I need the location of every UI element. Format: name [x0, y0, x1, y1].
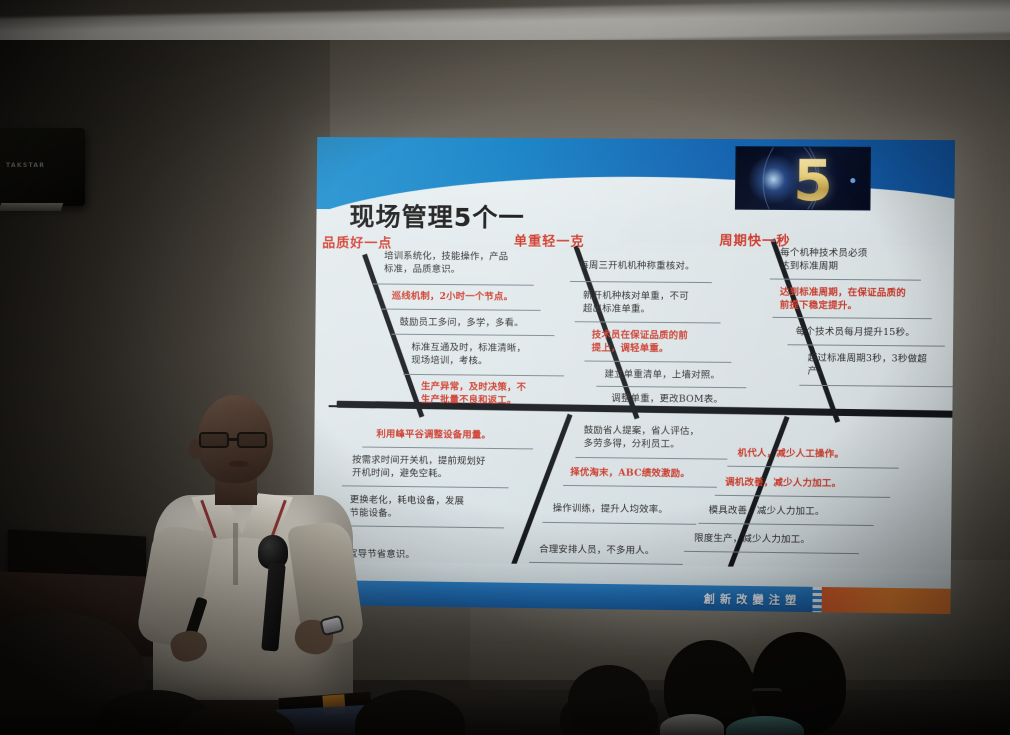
- fishbone-bone-quality: [362, 254, 424, 418]
- branch-auto-item-3: 限度生产，减少人力加工。: [694, 532, 810, 547]
- branch-cycle-item-1: 达到标准周期，在保证品质的 前提下稳定提升。: [780, 286, 906, 314]
- branch-cycle-item-3: 超过标准周期3秒，3秒做超 产。: [808, 351, 927, 379]
- fishbone-diagram: 5个一 改善 品质好一点 单重轻一克 周期快一秒 省一度电 省一大 培训系统化，…: [313, 137, 955, 614]
- branch-weight-item-4: 调整单重，更改BOM表。: [611, 392, 723, 406]
- branch-quality-item-3: 标准互通及时，标准清晰， 现场培训，考核。: [411, 341, 526, 369]
- glasses-lens-left: [199, 432, 229, 448]
- wall-speaker: TAKSTAR: [0, 128, 85, 206]
- branch-power-rule-1: [342, 485, 509, 488]
- branch-auto-rule-3: [684, 551, 859, 554]
- branch-quality-item-0: 培训系统化，技能操作，产品 标准，品质意识。: [384, 249, 508, 276]
- presenter: [145, 395, 360, 695]
- branch-people-item-2: 操作训练，提升人均效率。: [553, 502, 668, 517]
- glasses-lens-right: [237, 432, 267, 448]
- branch-weight-rule-1: [575, 321, 721, 323]
- branch-power-item-2: 更换老化，耗电设备，发展 节能设备。: [350, 493, 465, 521]
- branch-label-weight: 单重轻一克: [514, 230, 585, 250]
- branch-weight-rule-3: [596, 386, 746, 388]
- branch-weight-rule-2: [584, 361, 731, 363]
- branch-people-item-0: 鼓励省人提案，省人评估， 多劳多得，分利员工。: [584, 424, 700, 452]
- branch-quality-rule-2: [391, 334, 554, 336]
- glasses-bridge: [229, 438, 237, 441]
- branch-label-quality: 品质好一点: [322, 232, 392, 252]
- photo-scene: TAKSTAR 5 现场管理5个一: [0, 0, 1010, 735]
- branch-power-item-0: 利用峰平谷调整设备用量。: [376, 428, 491, 442]
- branch-quality-item-2: 鼓励员工多问，多学，多看。: [400, 316, 524, 330]
- speaker-brand-label: TAKSTAR: [6, 162, 45, 169]
- branch-auto-rule-0: [727, 466, 898, 469]
- branch-weight-item-2: 技术员在保证品质的前 提上，调轻单重。: [592, 328, 688, 355]
- branch-cycle-item-2: 每个技术员每月提升15秒。: [796, 325, 915, 339]
- branch-auto-item-0: 机代人，减少人工操作。: [738, 447, 845, 461]
- branch-quality-item-4: 生产异常，及时决策，不 生产批量不良和返工。: [421, 380, 526, 408]
- branch-weight-item-1: 新开机种核对单重，不可 超出标准单重。: [583, 289, 689, 316]
- branch-auto-item-1: 调机改善，减少人力加工。: [725, 476, 841, 491]
- branch-cycle-rule-1: [772, 317, 931, 319]
- presenter-shirt-placket: [233, 523, 238, 585]
- branch-power-item-1: 按需求时间开关机，提前规划好 开机时间，避免空耗。: [352, 453, 486, 481]
- branch-cycle-item-0: 每个机种技术员必须 达到标准周期: [780, 246, 867, 273]
- branch-people-item-3: 合理安排人员，不多用人。: [539, 543, 654, 558]
- projected-slide: 5 现场管理5个一 5个一 改善: [313, 137, 955, 614]
- branch-quality-rule-3: [403, 374, 564, 377]
- branch-people-rule-1: [563, 485, 717, 488]
- audience-foreground-shade: [0, 695, 1010, 735]
- branch-people-item-1: 择优淘末，ABC绩效激励。: [570, 466, 690, 481]
- branch-auto-rule-1: [715, 495, 890, 498]
- glasses-icon: [197, 432, 275, 448]
- slide-footer-accent: [820, 587, 951, 614]
- presenter-mouth: [229, 461, 249, 467]
- branch-auto-item-2: 模具改善，减少人力加工。: [709, 504, 825, 519]
- slide-footer-notch: [812, 587, 821, 612]
- speaker-mount-bracket: [0, 203, 63, 211]
- branch-quality-rule-1: [382, 309, 541, 311]
- fishbone-bone-people: [723, 416, 789, 580]
- branch-auto-rule-2: [698, 523, 873, 526]
- branch-quality-rule-0: [373, 283, 534, 285]
- branch-weight-item-3: 建立单重清单，上墙对照。: [604, 368, 720, 382]
- branch-weight-item-0: 每周三开机机种称重核对。: [579, 259, 695, 273]
- branch-people-rule-0: [575, 457, 727, 460]
- branch-power-rule-0: [362, 447, 533, 450]
- branch-cycle-rule-0: [770, 278, 921, 280]
- branch-people-rule-2: [542, 522, 696, 525]
- branch-power-rule-2: [338, 525, 505, 528]
- branch-quality-item-1: 巡线机制，2小时一个节点。: [392, 290, 513, 304]
- slide-footer-text: 創新改變注塑: [704, 590, 802, 608]
